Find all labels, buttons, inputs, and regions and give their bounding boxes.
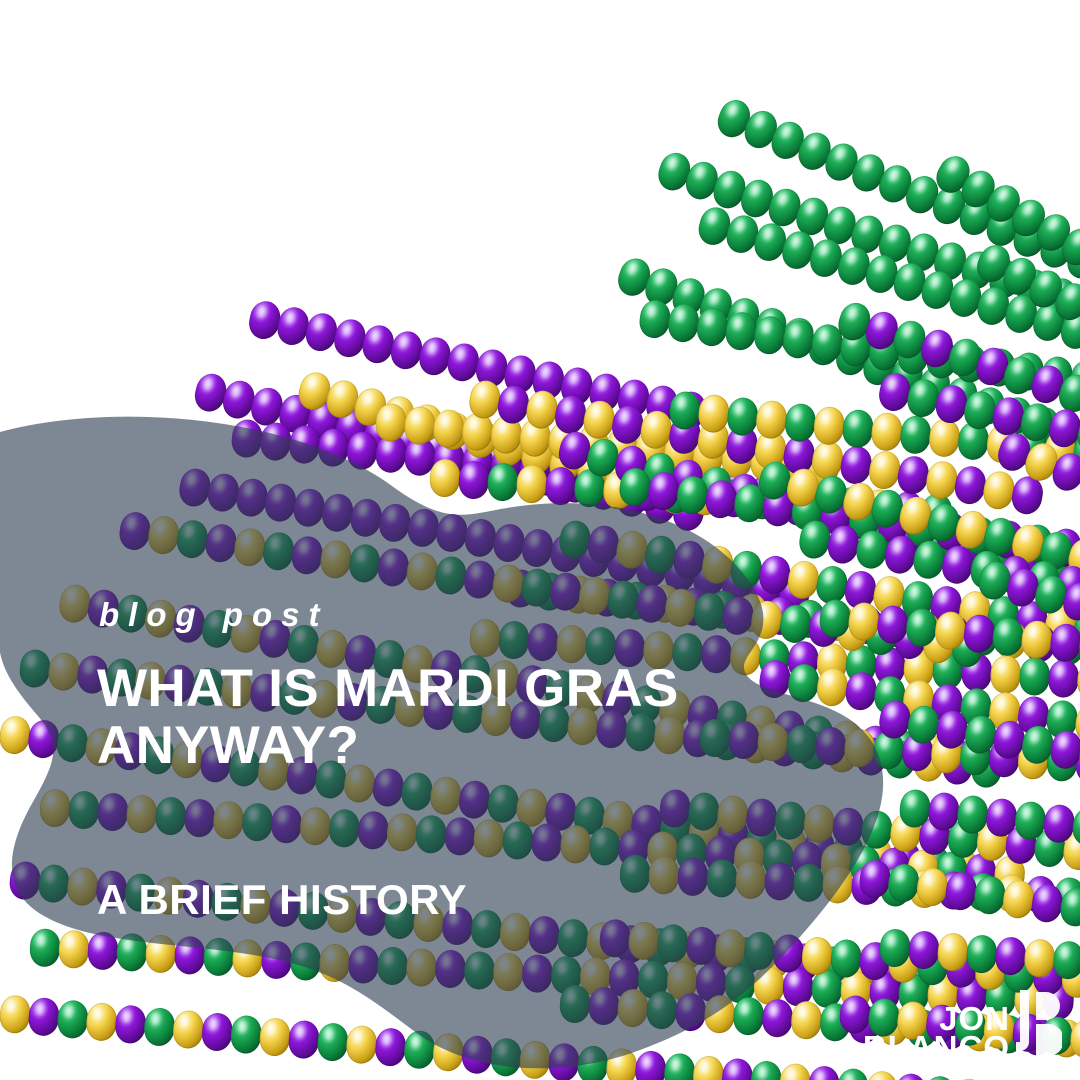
bead (870, 411, 904, 452)
subtitle: A BRIEF HISTORY (97, 879, 467, 921)
bead (663, 1052, 696, 1080)
bead (781, 318, 816, 360)
bead (648, 856, 680, 896)
bead (68, 790, 101, 830)
bead (8, 860, 42, 901)
bead (836, 1067, 869, 1080)
bead (617, 988, 650, 1028)
bead (822, 865, 854, 905)
bead (229, 1014, 262, 1054)
bead (399, 771, 434, 813)
bead (807, 1065, 840, 1080)
bead (818, 598, 852, 639)
bead (116, 933, 148, 973)
bead (905, 607, 939, 648)
bead (55, 722, 90, 764)
bead (829, 938, 862, 978)
bead (58, 930, 90, 970)
bead (972, 874, 1007, 916)
bead (154, 796, 187, 836)
bead (898, 788, 932, 829)
bead (405, 507, 441, 550)
bead (56, 999, 89, 1039)
bead (319, 491, 355, 534)
bead (1023, 938, 1056, 978)
bead (432, 408, 466, 449)
bead (812, 405, 846, 446)
bead (241, 802, 274, 842)
bead (544, 466, 577, 506)
page-title: WHAT IS MARDI GRAS ANYWAY? (97, 661, 817, 774)
bead (991, 616, 1025, 657)
bead (515, 464, 548, 504)
bead (598, 918, 631, 958)
bead (642, 533, 678, 576)
bead (646, 470, 681, 512)
bead (994, 936, 1027, 976)
bead (685, 926, 718, 966)
bead (405, 948, 437, 988)
headline-line-1: WHAT IS MARDI GRAS (97, 659, 679, 718)
bead (37, 863, 71, 904)
bead (434, 949, 466, 989)
bead (915, 866, 950, 908)
bead (815, 666, 850, 708)
bead (203, 937, 235, 977)
bead (634, 1050, 667, 1080)
bead (989, 654, 1022, 694)
bead (588, 826, 621, 866)
bead (619, 854, 651, 894)
bead (174, 936, 206, 976)
bead (521, 954, 553, 994)
bead (1048, 729, 1080, 772)
bead (847, 601, 881, 642)
bead (463, 951, 495, 991)
brand-logo-wordmark: JON BLANCO (863, 1004, 1010, 1062)
bead (201, 1012, 234, 1052)
bead (923, 1075, 956, 1080)
bead (328, 808, 361, 848)
bead (317, 427, 351, 468)
bead (666, 302, 701, 344)
bead (462, 517, 498, 560)
bead (125, 794, 158, 834)
bead (291, 486, 327, 529)
bead (559, 824, 592, 864)
bead (773, 800, 807, 841)
bead (704, 478, 739, 520)
bead (793, 863, 825, 903)
bead (797, 518, 833, 561)
bead (844, 670, 879, 712)
bead (434, 512, 470, 555)
bead (724, 310, 759, 352)
bead (557, 518, 593, 561)
bead (428, 775, 463, 817)
bead (732, 996, 765, 1036)
bead (764, 862, 796, 902)
bead (146, 514, 181, 556)
bead (743, 931, 776, 971)
bead (556, 918, 590, 959)
bead (1018, 656, 1051, 696)
bead (47, 651, 81, 692)
bead (605, 1047, 638, 1080)
bead (668, 390, 702, 431)
bead (345, 1024, 378, 1064)
bead (527, 915, 561, 956)
bead (204, 522, 239, 564)
bead (814, 726, 847, 766)
bead (498, 912, 532, 953)
bead (924, 459, 960, 502)
bead (261, 530, 296, 572)
bead (386, 812, 419, 852)
bead (458, 460, 491, 500)
bead (433, 555, 468, 597)
bead (491, 522, 527, 565)
bead (1001, 878, 1036, 920)
bead (962, 613, 996, 654)
bead (290, 942, 322, 982)
bead (175, 518, 210, 560)
bead (981, 469, 1017, 512)
bead (461, 1035, 494, 1075)
brand-name-line-2: BLANCO (863, 1033, 1010, 1062)
bead (882, 533, 918, 576)
bead (933, 610, 967, 651)
bead (172, 1009, 205, 1049)
bead (749, 1060, 782, 1080)
bead (735, 860, 767, 900)
bead (877, 698, 913, 741)
bead (270, 804, 303, 844)
bead (552, 393, 588, 436)
bead (726, 396, 760, 437)
bead (677, 857, 709, 897)
bead (376, 547, 411, 589)
bead (348, 945, 380, 985)
bead (319, 943, 351, 983)
bead (706, 859, 738, 899)
bead (57, 582, 93, 625)
bead (1076, 661, 1080, 701)
bead (316, 1022, 349, 1062)
bead (261, 940, 293, 980)
bead (581, 398, 617, 441)
bead (934, 708, 970, 751)
bead (205, 471, 241, 514)
brand-logo[interactable]: JON BLANCO (863, 990, 1062, 1062)
poster-canvas: blog post WHAT IS MARDI GRAS ANYWAY? A B… (0, 0, 1080, 1080)
bead (928, 417, 962, 458)
bead (495, 383, 531, 426)
bead (18, 648, 52, 689)
bead (518, 1040, 551, 1080)
bead (761, 998, 794, 1038)
bead (29, 928, 61, 968)
bead (1052, 940, 1080, 980)
bead (757, 554, 793, 597)
bead (843, 728, 876, 768)
bead (895, 454, 931, 497)
bead (85, 1002, 118, 1042)
bead (403, 405, 437, 446)
bead (831, 806, 865, 847)
bead (0, 714, 32, 756)
bead (772, 933, 805, 973)
bead (841, 408, 875, 449)
bead (716, 794, 750, 835)
bead (714, 928, 747, 968)
bead (865, 1070, 898, 1080)
bead (0, 994, 32, 1034)
bead (259, 421, 293, 462)
bead (645, 990, 678, 1030)
bead (911, 538, 947, 581)
bead (675, 474, 710, 516)
bead (299, 806, 332, 846)
bead (785, 559, 821, 602)
bead (627, 921, 660, 961)
bead (377, 502, 413, 545)
bead (177, 466, 213, 509)
bead (905, 703, 941, 746)
bead (288, 424, 322, 465)
bead (212, 800, 245, 840)
bead (576, 1045, 609, 1080)
bead (783, 402, 817, 443)
bead (143, 1007, 176, 1047)
bead (857, 858, 892, 900)
bead (524, 388, 560, 431)
bead (755, 399, 789, 440)
bead (27, 997, 60, 1037)
bead (1058, 886, 1080, 928)
bead (703, 994, 736, 1034)
bead (801, 936, 834, 976)
bead (674, 992, 707, 1032)
bead (692, 1055, 725, 1080)
bead (87, 931, 119, 971)
bead (721, 1057, 754, 1080)
bead (944, 870, 979, 912)
bead (671, 538, 707, 581)
bead (867, 449, 903, 492)
bead (937, 932, 970, 972)
bead (637, 298, 672, 340)
bead (432, 1032, 465, 1072)
bead (879, 928, 912, 968)
bead (886, 862, 921, 904)
bead (486, 783, 521, 825)
bead (547, 1042, 580, 1080)
bead (66, 866, 100, 907)
bead (357, 810, 390, 850)
text-block: blog post WHAT IS MARDI GRAS ANYWAY? (97, 598, 817, 774)
bead (519, 527, 555, 570)
bead (374, 402, 408, 443)
bead (502, 820, 535, 860)
bead (462, 559, 497, 601)
bead (728, 549, 764, 592)
bead (374, 1027, 407, 1067)
bead (876, 604, 910, 645)
bead (778, 1062, 811, 1080)
bead (469, 909, 503, 950)
bead (952, 464, 988, 507)
bead (39, 788, 72, 828)
bead (687, 791, 721, 832)
bead (1019, 723, 1055, 766)
bead (489, 1037, 522, 1077)
bead (415, 814, 448, 854)
bead (854, 528, 890, 571)
bead (444, 816, 477, 856)
bead (991, 718, 1027, 761)
bead (377, 946, 409, 986)
bead (429, 458, 462, 498)
bead (348, 497, 384, 540)
bead (939, 543, 975, 586)
bead (145, 934, 177, 974)
bead (318, 538, 353, 580)
bead (530, 822, 563, 862)
bead (1049, 622, 1080, 663)
bead (1020, 619, 1054, 660)
bead (894, 1072, 927, 1080)
bead (117, 510, 152, 552)
bead (232, 939, 264, 979)
bead (473, 818, 506, 858)
bead (908, 930, 941, 970)
bead (585, 523, 621, 566)
bead (1047, 659, 1080, 699)
jb-monogram-icon (1016, 990, 1062, 1060)
bead (617, 466, 652, 508)
bead (752, 314, 787, 356)
bead (262, 481, 298, 524)
bead (290, 534, 325, 576)
bead (258, 1017, 291, 1057)
bead (183, 798, 216, 838)
bead (962, 713, 998, 756)
bead (405, 551, 440, 593)
kicker-label: blog post (99, 598, 817, 631)
bead (230, 418, 264, 459)
bead (588, 986, 621, 1026)
bead (492, 952, 524, 992)
bead (559, 984, 592, 1024)
bead (985, 797, 1019, 838)
bead (825, 523, 861, 566)
bead (467, 378, 503, 421)
bead (403, 1029, 436, 1069)
bead (899, 414, 933, 455)
bead (695, 306, 730, 348)
bead (232, 526, 267, 568)
bead (658, 788, 692, 829)
bead (609, 403, 645, 446)
bead (287, 1019, 320, 1059)
bead (656, 923, 689, 963)
bead (1042, 803, 1076, 844)
bead (745, 797, 779, 838)
bead (697, 393, 731, 434)
bead (790, 1000, 823, 1040)
bead (927, 791, 961, 832)
bead (965, 934, 998, 974)
bead (802, 803, 836, 844)
bead (699, 543, 735, 586)
bead (234, 476, 270, 519)
bead (26, 718, 61, 760)
bead (956, 794, 990, 835)
bead (487, 462, 520, 502)
bead (97, 792, 130, 832)
bead (860, 809, 894, 850)
bead (347, 542, 382, 584)
bead (457, 779, 492, 821)
bead (614, 528, 650, 571)
bead (114, 1004, 147, 1044)
bead (1013, 800, 1047, 841)
headline-line-2: ANYWAY? (97, 716, 359, 775)
bead (1030, 882, 1065, 924)
